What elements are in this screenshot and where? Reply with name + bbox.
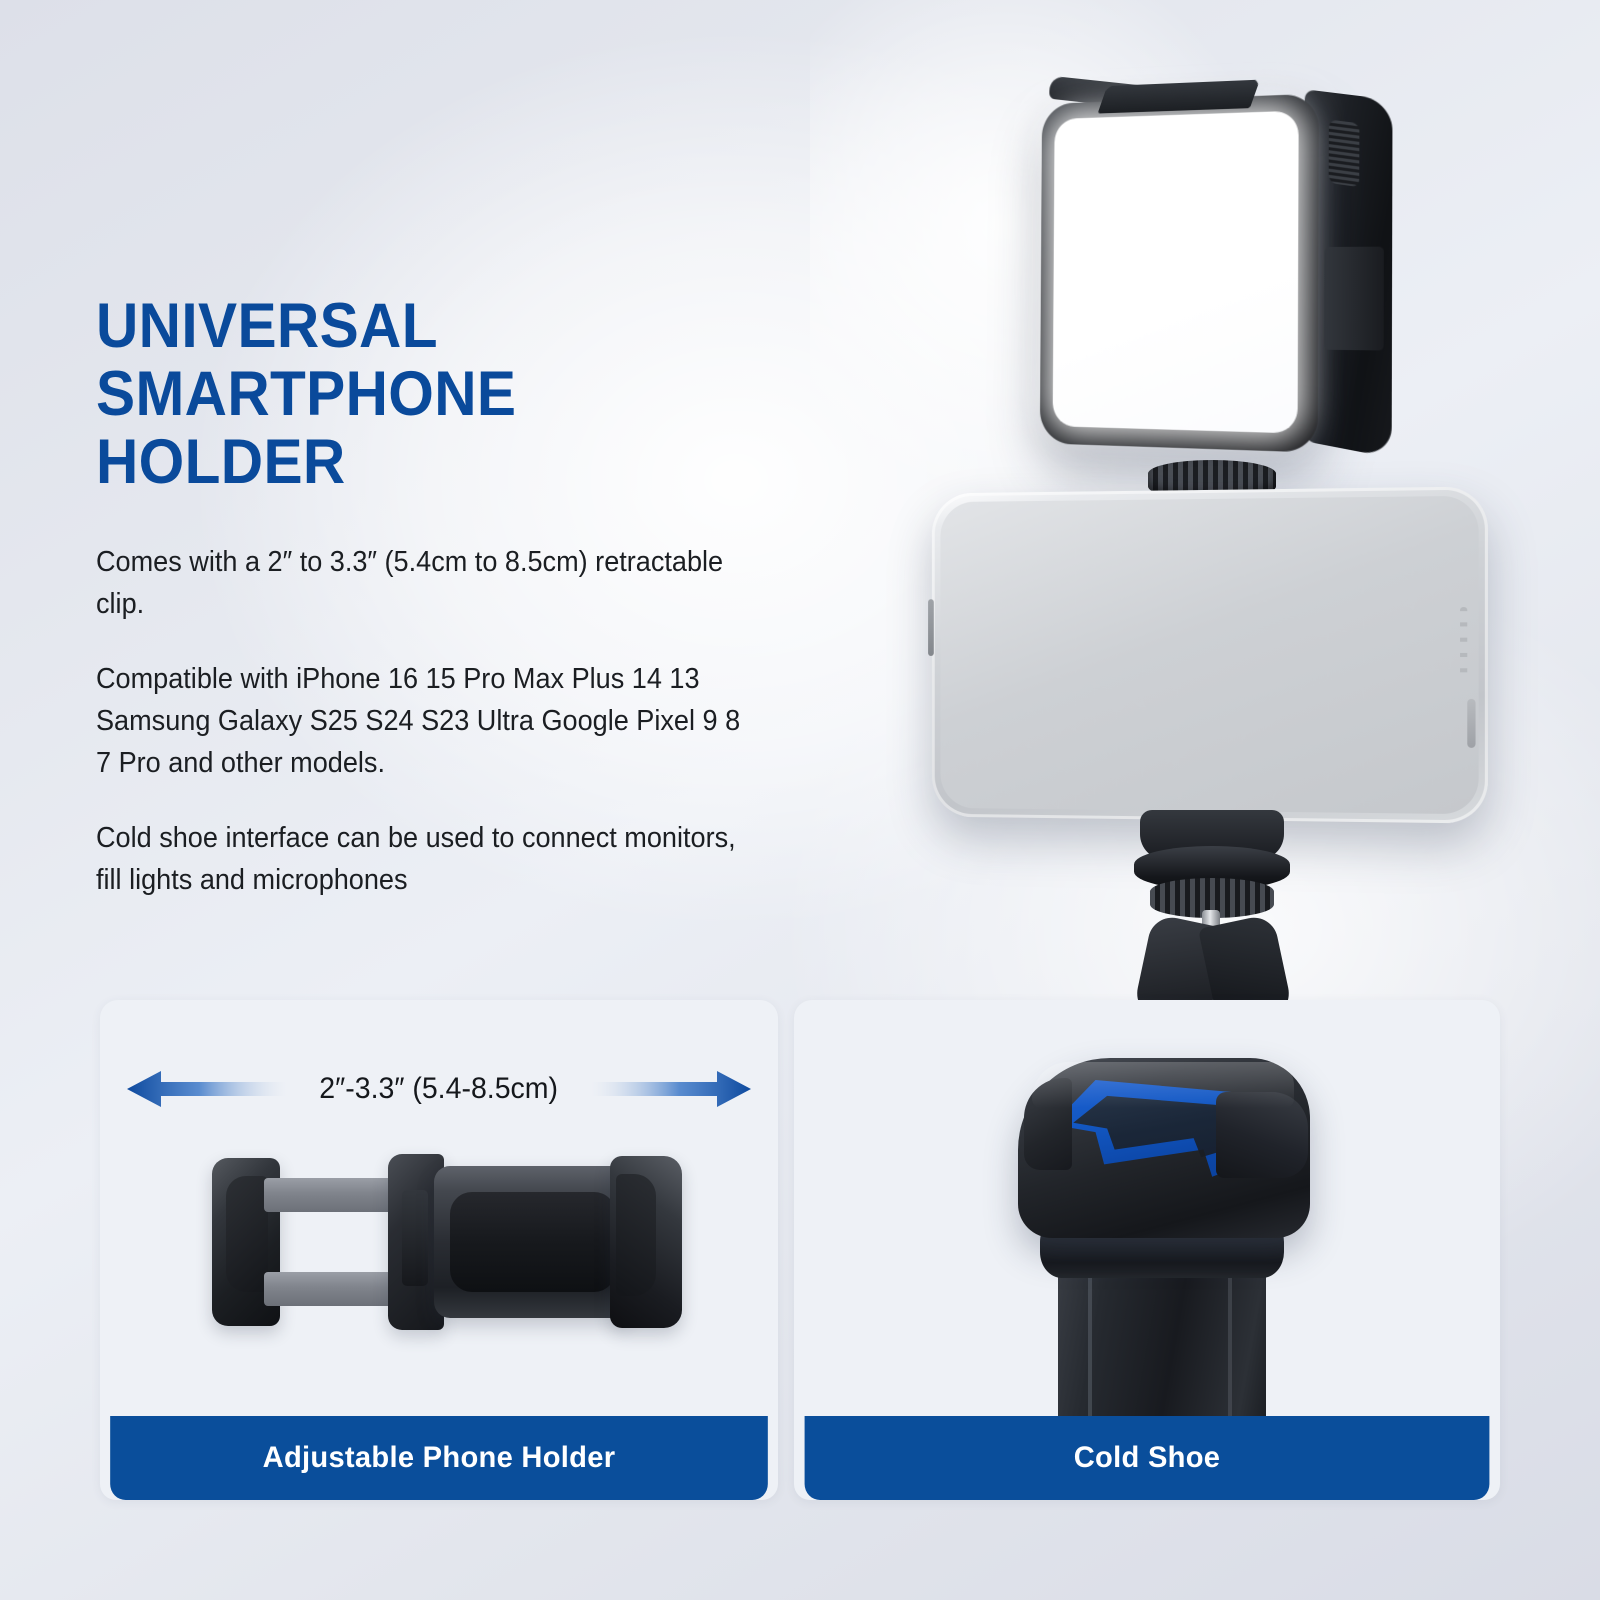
clamp-body-notch (402, 1190, 428, 1286)
headline-line-2: SMARTPHONE HOLDER (96, 360, 747, 496)
phone-clamp-illustration-icon (212, 1150, 682, 1335)
led-light-panel (1053, 111, 1299, 434)
product-infographic: UNIVERSAL SMARTPHONE HOLDER Comes with a… (0, 0, 1600, 1600)
led-housing (1040, 94, 1319, 453)
smartphone-icon (932, 486, 1488, 823)
clamp-grip-pad (450, 1192, 616, 1292)
card-media-phone-holder: 2″-3.3″ (5.4-8.5cm) (100, 1000, 778, 1416)
phone-speaker-grille (1460, 607, 1467, 682)
phone-charging-port (1467, 699, 1475, 748)
arrow-left-icon (127, 1069, 287, 1109)
hero-product-image (880, 60, 1520, 1020)
cold-shoe-lip-right (1216, 1092, 1308, 1178)
feature-paragraph-clip-range: Comes with a 2″ to 3.3″ (5.4cm to 8.5cm)… (96, 542, 752, 625)
page-title: UNIVERSAL SMARTPHONE HOLDER (96, 292, 747, 496)
cold-shoe-lip-left (1024, 1078, 1072, 1170)
feature-paragraph-compatibility: Compatible with iPhone 16 15 Pro Max Plu… (96, 659, 752, 784)
card-caption-cold-shoe: Cold Shoe (805, 1416, 1490, 1500)
measurement-annotation: 2″-3.3″ (5.4-8.5cm) (100, 1062, 778, 1116)
phone-screen (940, 496, 1478, 815)
headline-line-1: UNIVERSAL (96, 291, 438, 361)
card-caption-adjustable-phone-holder: Adjustable Phone Holder (110, 1416, 768, 1500)
led-side-band (1324, 247, 1384, 351)
led-fill-light-icon (1040, 92, 1350, 474)
tripod-head-icon (1116, 810, 1306, 1020)
measurement-label: 2″-3.3″ (5.4-8.5cm) (320, 1072, 559, 1106)
feature-card-cold-shoe: Cold Shoe (794, 1000, 1500, 1500)
clamp-jaw-right-inner (616, 1174, 656, 1296)
cold-shoe-illustration-icon (962, 1040, 1362, 1416)
clamp-jaw-left-inner (226, 1176, 268, 1292)
feature-paragraphs: Comes with a 2″ to 3.3″ (5.4cm to 8.5cm)… (96, 542, 796, 901)
led-dial-knob (1329, 119, 1360, 187)
arrow-right-icon (591, 1069, 751, 1109)
feature-card-adjustable-phone-holder: 2″-3.3″ (5.4-8.5cm) (100, 1000, 778, 1500)
extension-rail-bottom (264, 1272, 404, 1306)
extension-rail-top (264, 1178, 404, 1212)
copy-block: UNIVERSAL SMARTPHONE HOLDER Comes with a… (96, 292, 796, 901)
phone-side-button (928, 599, 934, 656)
feature-paragraph-cold-shoe: Cold shoe interface can be used to conne… (96, 818, 752, 901)
card-media-cold-shoe (794, 1000, 1500, 1416)
